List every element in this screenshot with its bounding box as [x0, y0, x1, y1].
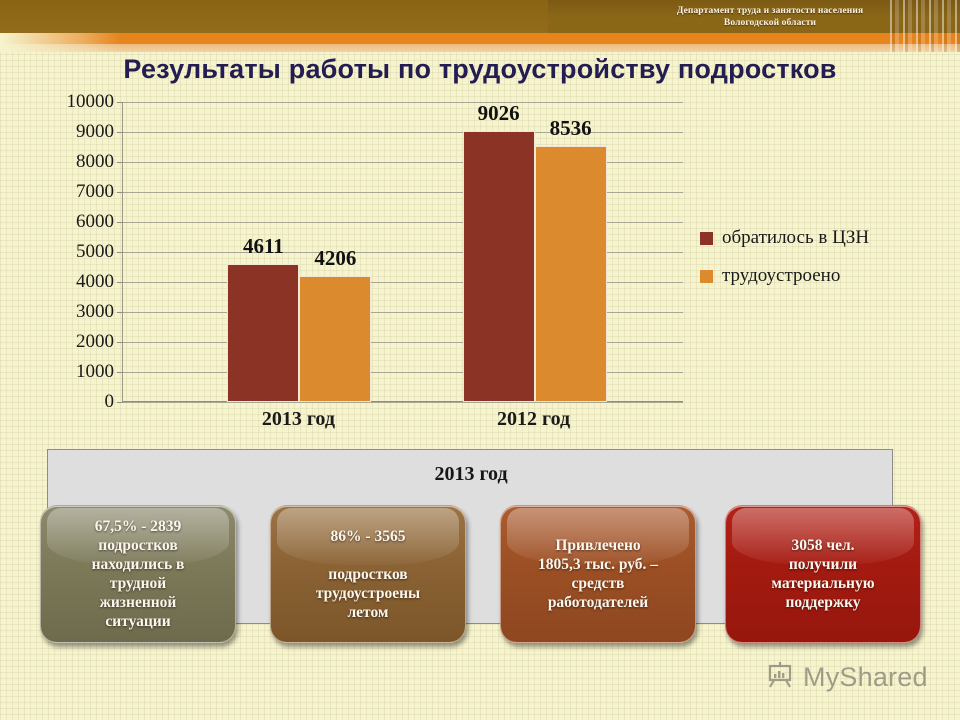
bar-employed [299, 276, 371, 402]
summary-card: 67,5% - 2839 подростков находились в тру… [40, 505, 236, 643]
page-title: Результаты работы по трудоустройству под… [0, 54, 960, 85]
y-axis-tickmark [117, 102, 123, 103]
y-axis: 1000090008000700060005000400030002000100… [22, 92, 122, 402]
legend-item: обратилось в ЦЗН [700, 227, 940, 249]
summary-panel-title: 2013 год [48, 463, 894, 486]
y-axis-tickmark [117, 192, 123, 193]
bar-applied [227, 264, 299, 402]
banner-dark-band-left [0, 0, 548, 33]
x-axis-tick-label: 2012 год [497, 408, 570, 431]
y-axis-tick-label: 1000 [76, 361, 114, 383]
summary-card-text: 86% - 3565 подростков трудоустроены лето… [316, 527, 420, 622]
legend-item: трудоустроено [700, 265, 940, 287]
y-axis-tick-label: 10000 [67, 91, 115, 113]
bar-applied [463, 131, 535, 402]
header-banner: Департамент труда и занятости населения … [0, 0, 960, 52]
y-axis-tick-label: 9000 [76, 121, 114, 143]
presentation-board-icon [766, 660, 796, 695]
x-axis-tick-label: 2013 год [262, 408, 335, 431]
y-axis-tick-label: 3000 [76, 301, 114, 323]
y-axis-tickmark [117, 372, 123, 373]
y-axis-tick-label: 2000 [76, 331, 114, 353]
organization-name-line2: Вологодской области [610, 17, 930, 29]
y-axis-tick-label: 6000 [76, 211, 114, 233]
summary-cards: 67,5% - 2839 подростков находились в тру… [0, 505, 960, 665]
organization-name-line1: Департамент труда и занятости населения [610, 5, 930, 17]
y-axis-tickmark [117, 342, 123, 343]
bar-value-label: 4206 [314, 246, 356, 271]
bar-employed [535, 146, 607, 402]
summary-card: 86% - 3565 подростков трудоустроены лето… [270, 505, 466, 643]
bar-value-label: 8536 [550, 116, 592, 141]
banner-orange-band [0, 33, 960, 44]
y-axis-tick-label: 5000 [76, 241, 114, 263]
y-axis-tickmark [117, 132, 123, 133]
chart-legend: обратилось в ЦЗНтрудоустроено [700, 227, 940, 303]
y-axis-tickmark [117, 282, 123, 283]
watermark: MyShared [766, 660, 928, 695]
y-axis-tickmark [117, 402, 123, 403]
slide-canvas: Департамент труда и занятости населения … [0, 0, 960, 720]
y-axis-tickmark [117, 252, 123, 253]
banner-fade-left [0, 33, 120, 52]
gridline [123, 132, 683, 133]
legend-swatch-icon [700, 232, 713, 245]
y-axis-tickmark [117, 162, 123, 163]
bar-value-label: 4611 [243, 234, 284, 259]
bar-value-label: 9026 [478, 101, 520, 126]
y-axis-tickmark [117, 222, 123, 223]
y-axis-tickmark [117, 312, 123, 313]
watermark-label: MyShared [803, 662, 928, 693]
gridline [123, 402, 683, 403]
summary-card: Привлечено 1805,3 тыс. руб. – средств ра… [500, 505, 696, 643]
summary-card-text: 3058 чел. получили материальную поддержк… [771, 536, 874, 612]
summary-card-text: 67,5% - 2839 подростков находились в тру… [92, 517, 185, 631]
plot-area: 4611420690268536 [122, 102, 682, 402]
gridline [123, 102, 683, 103]
bar-chart: 1000090008000700060005000400030002000100… [0, 92, 960, 442]
legend-label: трудоустроено [722, 265, 840, 287]
banner-tan-band [0, 44, 960, 52]
y-axis-tick-label: 4000 [76, 271, 114, 293]
organization-name: Департамент труда и занятости населения … [610, 5, 930, 29]
summary-card-text: Привлечено 1805,3 тыс. руб. – средств ра… [538, 536, 658, 612]
y-axis-tick-label: 8000 [76, 151, 114, 173]
legend-swatch-icon [700, 270, 713, 283]
y-axis-tick-label: 7000 [76, 181, 114, 203]
legend-label: обратилось в ЦЗН [722, 227, 869, 249]
summary-card: 3058 чел. получили материальную поддержк… [725, 505, 921, 643]
y-axis-tick-label: 0 [105, 391, 115, 413]
